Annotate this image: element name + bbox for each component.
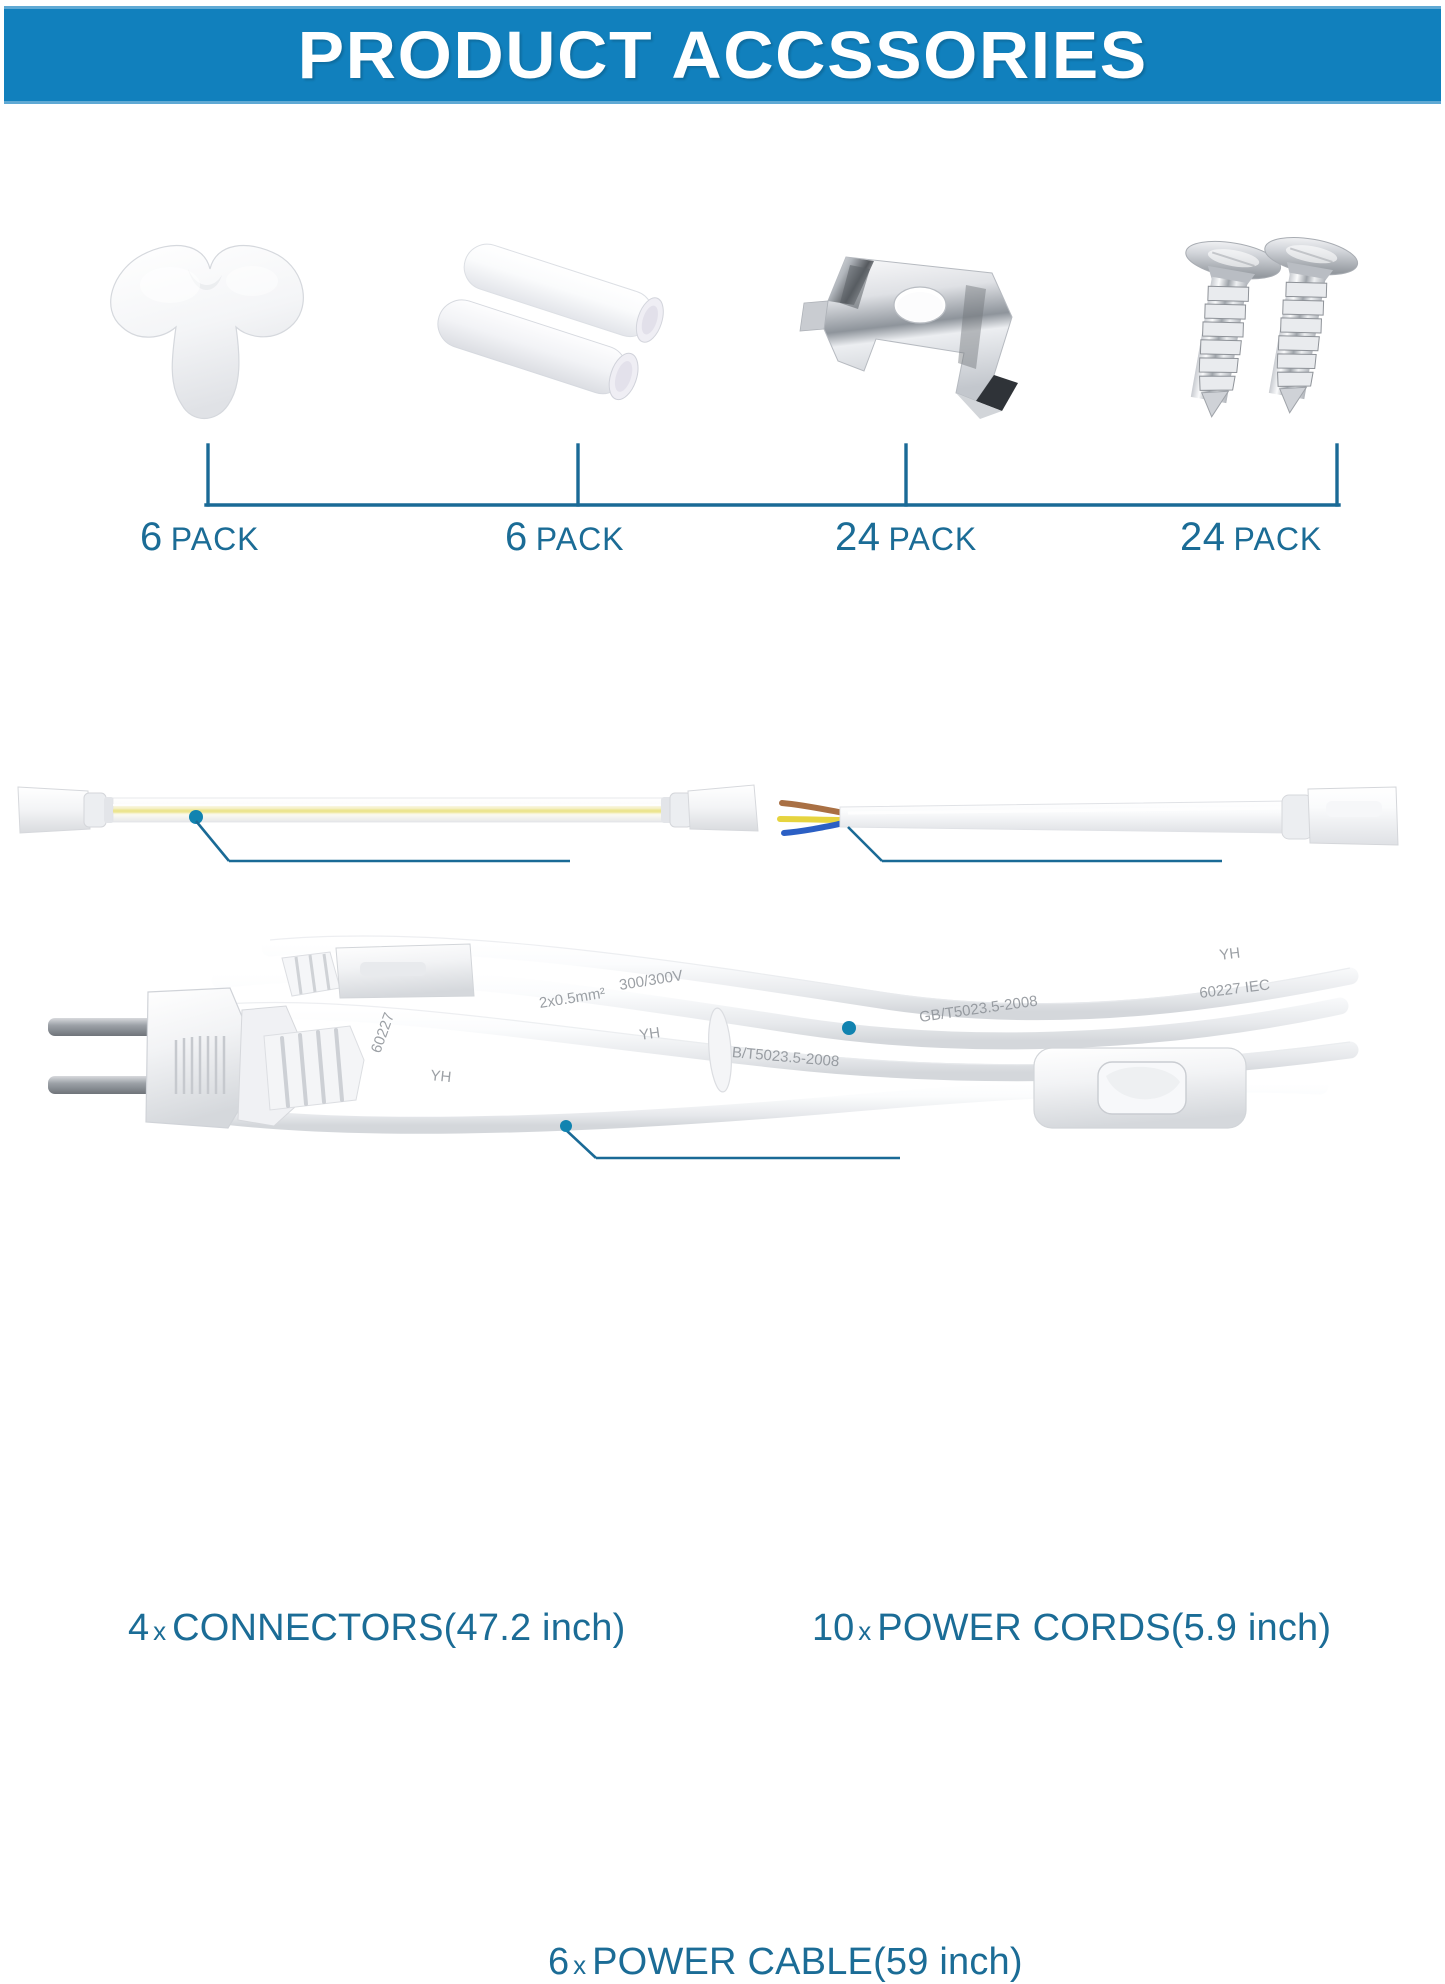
part-cell-tube-connector [410, 215, 710, 455]
connector-cable-name: CONNECTORS(47.2 inch) [172, 1607, 625, 1649]
power-cord-qty: 10 [812, 1607, 854, 1649]
power-cable-name: POWER CABLE(59 inch) [592, 1941, 1023, 1983]
svg-text:YH: YH [430, 1067, 453, 1086]
inline-switch [1034, 1048, 1246, 1128]
header-banner: PRODUCT ACCSSORIES [4, 6, 1441, 104]
power-cord-label: 10xPOWER CORDS(5.9 inch) [812, 1607, 1331, 1650]
power-cable-qty: 6 [548, 1941, 569, 1983]
part-cell-trefoil-clip [60, 215, 360, 455]
pack-qty: 6 [140, 515, 163, 559]
connector-cable-label: 4xCONNECTORS(47.2 inch) [128, 1607, 625, 1650]
pack-unit: PACK [171, 521, 260, 557]
multiplier-symbol: x [573, 1950, 586, 1980]
svg-text:YH: YH [638, 1024, 661, 1044]
pack-qty: 24 [835, 515, 881, 559]
strain-relief [264, 1026, 364, 1110]
leader-dot-power-cable-2 [560, 1120, 572, 1132]
pack-unit: PACK [889, 521, 978, 557]
trefoil-clip-icon [100, 235, 320, 435]
multiplier-symbol: x [153, 1616, 166, 1646]
pack-unit: PACK [536, 521, 625, 557]
power-cord-name: POWER CORDS(5.9 inch) [877, 1607, 1331, 1649]
connector-cable-qty: 4 [128, 1607, 149, 1649]
page-title: PRODUCT ACCSSORIES [297, 17, 1147, 94]
tube-connector-icon [425, 235, 695, 435]
pack-label-metal-clip: 24PACK [835, 515, 977, 560]
pack-label-trefoil-clip: 6PACK [140, 515, 260, 560]
pack-labels: 6PACK 6PACK 24PACK 24PACK [0, 515, 1445, 570]
part-cell-screws [1120, 215, 1410, 455]
bracket-lines [0, 435, 1445, 510]
connector-cable-icon [10, 765, 770, 895]
power-cable-icon: 300/300V 2x0.5mm² GB/T5023.5-2008 60227 … [20, 930, 1440, 1230]
us-plug [48, 988, 298, 1128]
screw-icon [1158, 235, 1373, 435]
pack-unit: PACK [1234, 521, 1323, 557]
power-cord-icon [770, 765, 1420, 895]
part-cell-metal-clip [755, 215, 1055, 455]
bracket-connector [0, 435, 1445, 510]
metal-clip-icon [780, 243, 1030, 428]
pack-qty: 24 [1180, 515, 1226, 559]
multiplier-symbol: x [858, 1616, 871, 1646]
pack-label-screws: 24PACK [1180, 515, 1322, 560]
svg-text:GB/T5023.5-2008: GB/T5023.5-2008 [918, 993, 1038, 1026]
pack-qty: 6 [505, 515, 528, 559]
parts-row [0, 215, 1445, 455]
power-cable-label: 6xPOWER CABLE(59 inch) [548, 1941, 1023, 1984]
cable-area: 4xCONNECTORS(47.2 inch) 10xPOWER CORDS(5… [0, 745, 1445, 1259]
pack-label-tube-connector: 6PACK [505, 515, 625, 560]
leader-dot-power-cable [842, 1021, 856, 1035]
svg-text:YH: YH [1218, 945, 1241, 964]
